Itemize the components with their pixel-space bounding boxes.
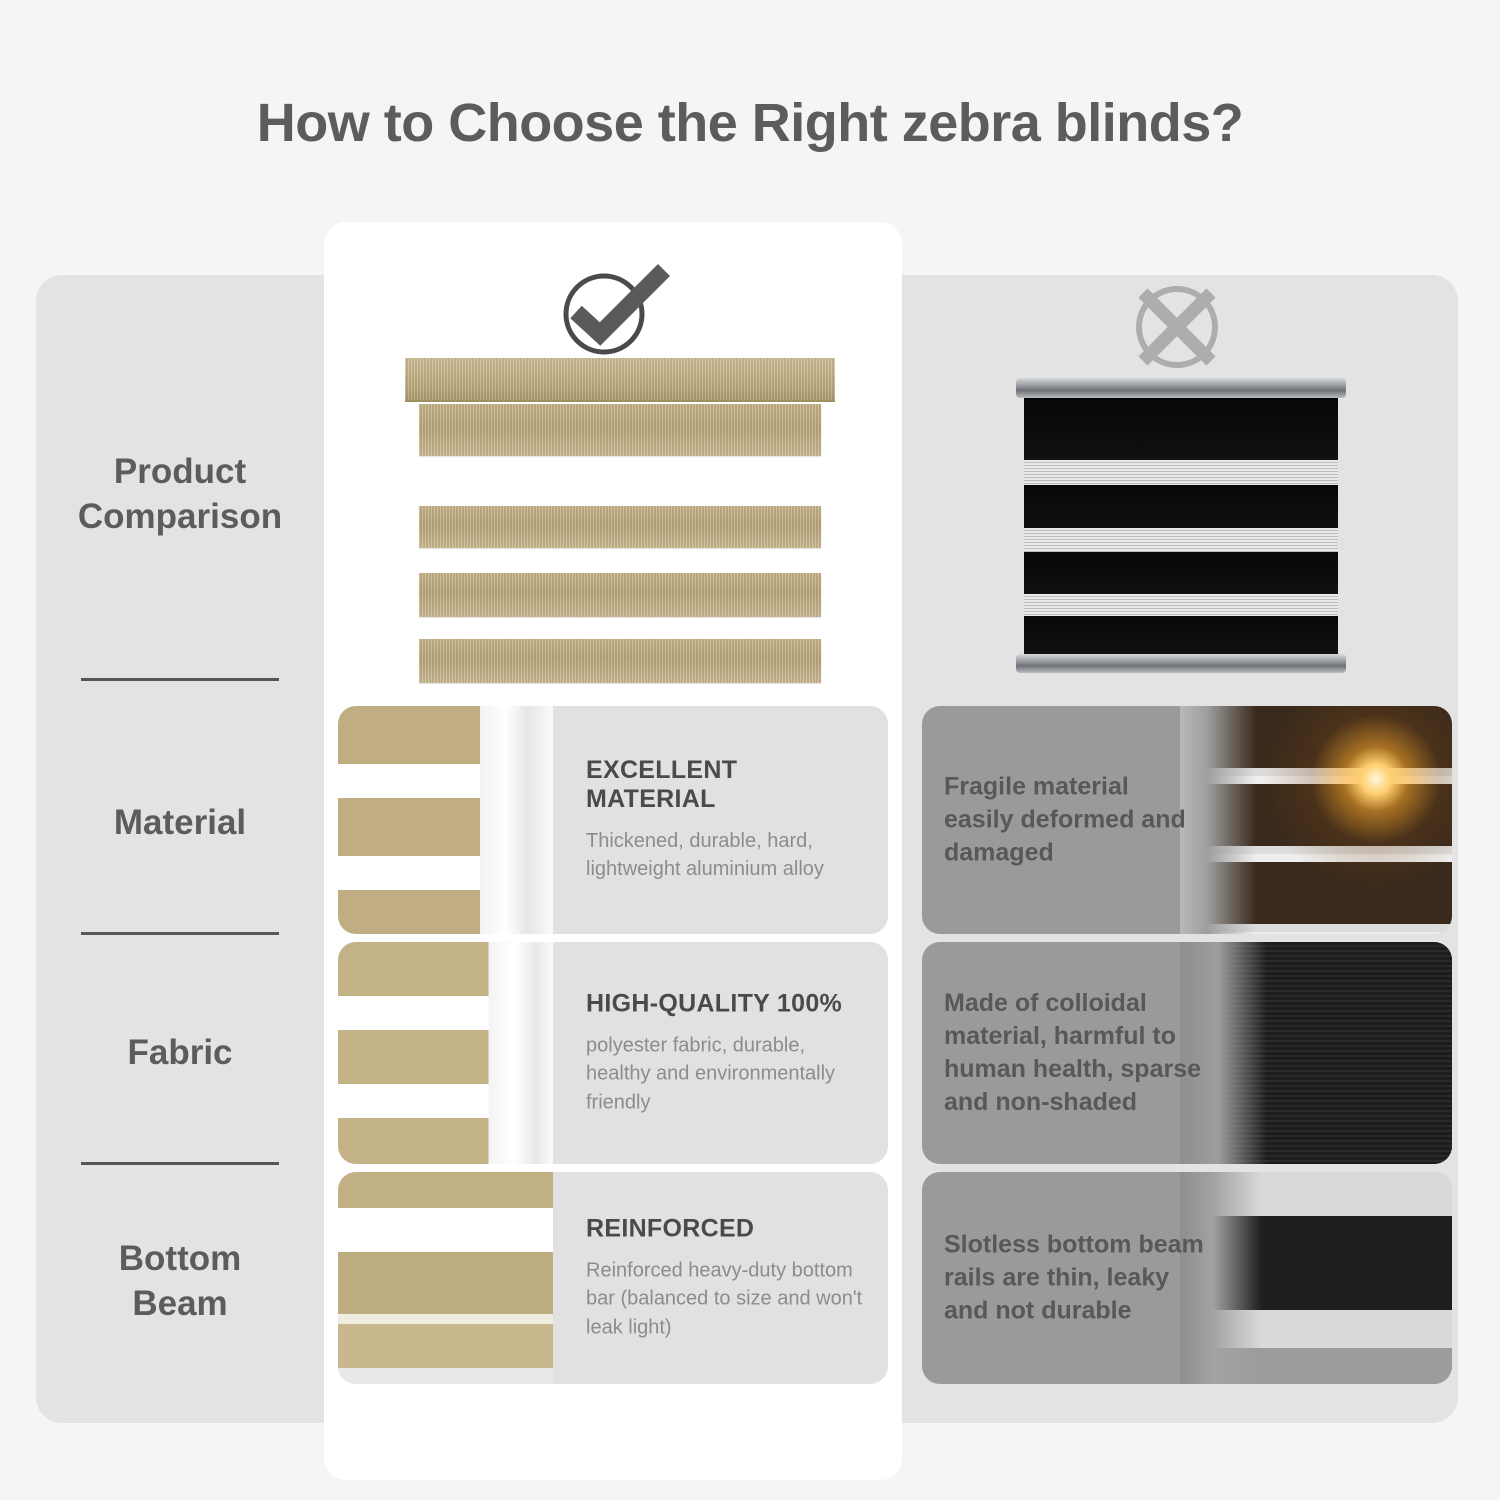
bottom-beam-good-photo (338, 1172, 553, 1384)
row-divider (81, 1162, 279, 1165)
row-label-fabric: Fabric (36, 1031, 324, 1076)
row-label-line1: Bottom (36, 1237, 324, 1282)
bad-feature-material: Fragile material easily deformed and dam… (922, 706, 1452, 934)
material-good-body: Thickened, durable, hard, lightweight al… (586, 827, 866, 884)
blind-bottom-rail (1016, 654, 1346, 673)
good-product-hero-image (405, 358, 835, 698)
blind-sheer-band (1024, 460, 1338, 485)
blind-slat (419, 573, 821, 617)
fabric-good-photo (338, 942, 553, 1164)
bottom-beam-good-heading: REINFORCED (586, 1214, 866, 1243)
blind-slat (419, 506, 821, 548)
material-good-photo (338, 706, 553, 934)
check-circle-icon (548, 252, 678, 362)
cross-circle-icon (1112, 272, 1242, 382)
blind-black-band (1024, 485, 1338, 528)
blind-slat (419, 639, 821, 683)
row-label-column: Product Comparison Material Fabric Botto… (36, 275, 324, 1423)
row-label-line2: Comparison (36, 495, 324, 540)
bottom-beam-bad-text: Slotless bottom beam rails are thin, lea… (944, 1229, 1204, 1328)
row-label-product-comparison: Product Comparison (36, 450, 324, 540)
blind-sheer-band (1024, 528, 1338, 552)
bad-feature-bottom-beam: Slotless bottom beam rails are thin, lea… (922, 1172, 1452, 1384)
fabric-good-body: polyester fabric, durable, healthy and e… (586, 1031, 866, 1116)
blind-black-band (1024, 552, 1338, 594)
blind-black-band (1024, 616, 1338, 654)
row-divider (81, 678, 279, 681)
material-bad-photo (1180, 706, 1452, 934)
fabric-good-heading: HIGH-QUALITY 100% (586, 989, 866, 1018)
material-good-heading: EXCELLENT MATERIAL (586, 756, 866, 814)
page-title: How to Choose the Right zebra blinds? (0, 92, 1500, 154)
blind-headrail (1016, 378, 1346, 398)
fabric-bad-photo (1180, 942, 1452, 1164)
row-divider (81, 932, 279, 935)
bottom-beam-bad-photo (1180, 1172, 1452, 1384)
blind-headrail (405, 358, 835, 402)
good-feature-fabric: HIGH-QUALITY 100% polyester fabric, dura… (338, 942, 888, 1164)
bad-feature-fabric: Made of colloidal material, harmful to h… (922, 942, 1452, 1164)
blind-sheer-band (1024, 594, 1338, 616)
row-label-line1: Product (36, 450, 324, 495)
row-label-material: Material (36, 801, 324, 846)
blind-slat (419, 404, 821, 456)
row-label-bottom-beam: Bottom Beam (36, 1237, 324, 1327)
bad-product-hero-image (1016, 378, 1346, 673)
material-bad-text: Fragile material easily deformed and dam… (944, 771, 1204, 870)
blind-black-band (1024, 398, 1338, 460)
row-label-line2: Beam (36, 1282, 324, 1327)
bottom-beam-good-body: Reinforced heavy-duty bottom bar (balanc… (586, 1256, 866, 1341)
good-feature-bottom-beam: REINFORCED Reinforced heavy-duty bottom … (338, 1172, 888, 1384)
good-feature-material: EXCELLENT MATERIAL Thickened, durable, h… (338, 706, 888, 934)
fabric-bad-text: Made of colloidal material, harmful to h… (944, 987, 1204, 1119)
